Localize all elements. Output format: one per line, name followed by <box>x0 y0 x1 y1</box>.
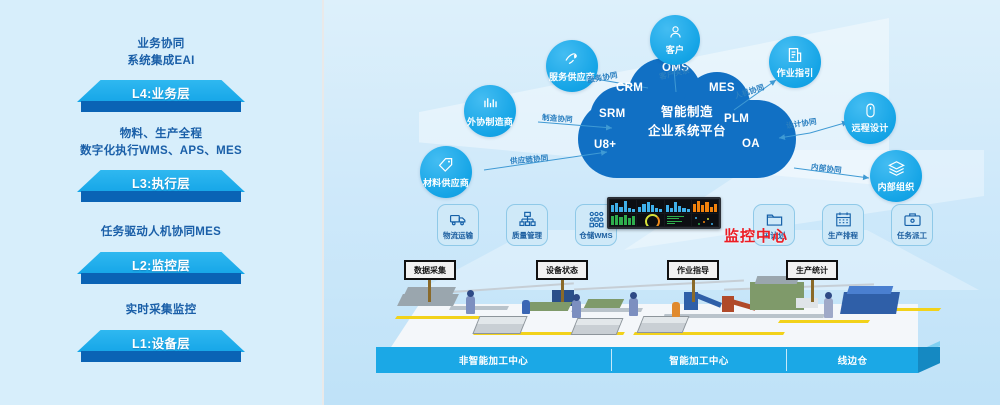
cloud-title-line2: 企业系统平台 <box>572 122 802 141</box>
satellite-label: 客户 <box>666 43 684 56</box>
caption-line: 实时采集监控 <box>0 302 322 319</box>
bar-chart-mini <box>611 201 635 212</box>
cloud-module-plm[interactable]: PLM <box>724 113 749 125</box>
app-icon-label: 物流运输 <box>443 230 473 241</box>
dashboard-cell <box>692 214 718 227</box>
satellite-work-guidance[interactable]: 作业指引 <box>769 36 821 88</box>
layer-slab-l4[interactable]: L4:业务层 <box>77 80 245 114</box>
bar-chart-mini <box>638 201 662 212</box>
dashboard-cell <box>665 214 691 227</box>
scatter-mini <box>692 214 718 227</box>
caption-line: 业务协同 <box>0 36 322 53</box>
toolbox-icon <box>903 210 922 229</box>
satellite-label: 内部组织 <box>878 180 915 193</box>
layer-caption-l1: 实时采集监控 <box>0 302 322 319</box>
app-icon-task-dispatch[interactable]: 任务派工 <box>891 204 933 246</box>
layer-slab-l1[interactable]: L1:设备层 <box>77 330 245 364</box>
monitoring-dashboard-screen[interactable] <box>607 197 721 229</box>
caption-line: 数字化执行WMS、APS、MES <box>0 143 322 160</box>
dashboard-cell <box>610 214 636 227</box>
monitoring-center-title: 监控中心 <box>724 225 788 246</box>
satellite-label: 远程设计 <box>852 121 889 134</box>
cloud-module-oa[interactable]: OA <box>742 138 760 150</box>
line-list-mini <box>667 216 689 225</box>
layer-slab-l3[interactable]: L3:执行层 <box>77 170 245 204</box>
caption-line: 系统集成EAI <box>0 53 322 70</box>
satellite-label: 作业指引 <box>777 66 814 79</box>
diagram-canvas: 业务协同 系统集成EAI L4:业务层 物料、生产全程 数字化执行WMS、APS… <box>0 0 1000 405</box>
quality-icon <box>518 210 537 229</box>
cloud-module-srm[interactable]: SRM <box>599 108 625 120</box>
app-icon-label: 任务派工 <box>897 230 927 241</box>
left-layer-panel: 业务协同 系统集成EAI L4:业务层 物料、生产全程 数字化执行WMS、APS… <box>0 0 324 405</box>
satellite-label: 材料供应商 <box>423 176 469 189</box>
satellite-external-manufacturer[interactable]: 外协制造商 <box>464 85 516 137</box>
connector-label-manufacture-coop: 制造协同 <box>542 112 574 125</box>
dashboard-cell <box>692 200 718 213</box>
layers-icon <box>887 159 906 178</box>
bar-chart-mini <box>693 201 717 212</box>
truck-icon <box>449 210 468 229</box>
layer-caption-l3: 物料、生产全程 数字化执行WMS、APS、MES <box>0 126 322 159</box>
app-icon-quality[interactable]: 质量管理 <box>506 204 548 246</box>
cloud-module-crm[interactable]: CRM <box>616 82 643 94</box>
app-icon-logistics[interactable]: 物流运输 <box>437 204 479 246</box>
document-icon <box>786 46 804 64</box>
caption-line: 任务驱动人机协同MES <box>0 224 322 241</box>
layer-label-l3: L3:执行层 <box>77 171 245 193</box>
right-architecture-panel: 智能制造 企业系统平台 OMS CRM MES SRM PLM U8+ OA 客… <box>324 0 1000 405</box>
layer-slab-l2[interactable]: L2:监控层 <box>77 252 245 286</box>
mouse-icon <box>862 102 879 119</box>
satellite-label: 外协制造商 <box>467 115 513 128</box>
satellite-material-supplier[interactable]: 材料供应商 <box>420 146 472 198</box>
gauge-ring <box>645 214 660 226</box>
layer-caption-l4: 业务协同 系统集成EAI <box>0 36 322 69</box>
cloud-module-u8plus[interactable]: U8+ <box>594 139 616 151</box>
tag-icon <box>437 156 455 174</box>
bar-chart-mini <box>611 214 635 225</box>
app-icon-label: 质量管理 <box>512 230 542 241</box>
dashboard-cell <box>610 200 636 213</box>
satellite-customer[interactable]: 客户 <box>650 15 700 65</box>
satellite-internal-org[interactable]: 内部组织 <box>870 150 922 202</box>
app-icon-label: 生产排程 <box>828 230 858 241</box>
dashboard-cell <box>665 200 691 213</box>
dashboard-cell <box>637 214 663 227</box>
dashboard-cell <box>637 200 663 213</box>
layer-label-l1: L1:设备层 <box>77 331 245 353</box>
bar-chart-mini <box>666 201 690 212</box>
layer-label-l4: L4:业务层 <box>77 81 245 103</box>
calendar-icon <box>834 210 853 229</box>
caption-line: 物料、生产全程 <box>0 126 322 143</box>
layer-caption-l2: 任务驱动人机协同MES <box>0 224 322 241</box>
factory-icon <box>481 94 500 113</box>
cloud-module-mes[interactable]: MES <box>709 82 735 94</box>
user-icon <box>667 24 684 41</box>
app-icon-label: 仓储WMS <box>579 230 612 241</box>
warehouse-icon <box>587 210 606 229</box>
layer-label-l2: L2:监控层 <box>77 253 245 275</box>
handshake-icon <box>563 50 581 68</box>
satellite-remote-design[interactable]: 远程设计 <box>844 92 896 144</box>
app-icon-production-schedule[interactable]: 生产排程 <box>822 204 864 246</box>
